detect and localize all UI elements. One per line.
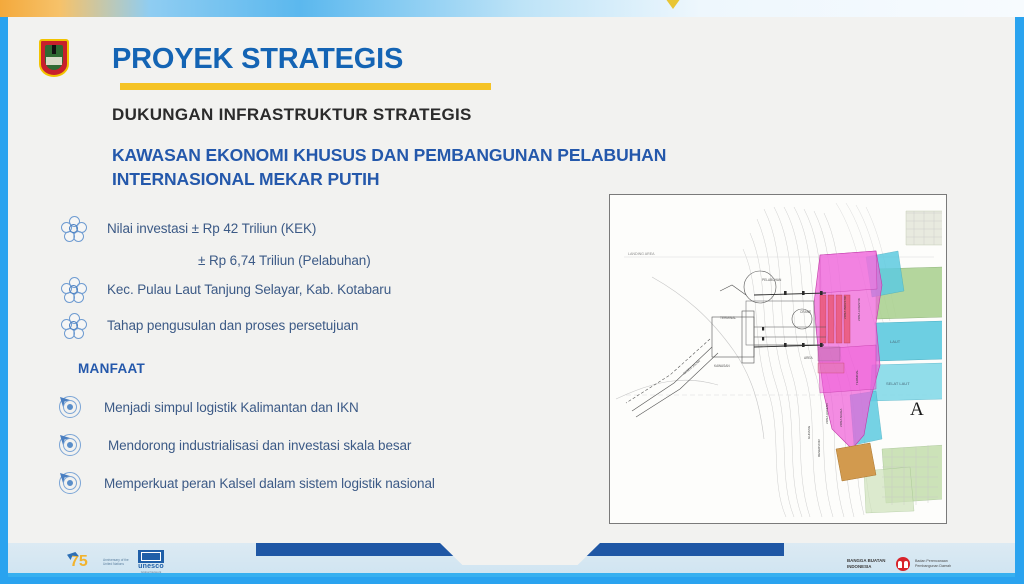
page-subtitle: DUKUNGAN INFRASTRUKTUR STRATEGIS [112,105,472,125]
flower-icon [60,215,88,243]
list-item-label: Kec. Pulau Laut Tanjung Selayar, Kab. Ko… [107,281,391,298]
radar-icon [58,395,84,421]
svg-text:TERMINAL: TERMINAL [720,316,736,320]
list-item: ± Rp 6,74 Triliun (Pelabuhan) [198,252,371,269]
svg-text:GUDANG: GUDANG [807,425,811,439]
svg-text:CRANE: CRANE [800,310,811,314]
un75-caption: Anniversary of the United Nations [103,558,133,566]
title-underline [120,83,491,90]
list-item: Mendorong industrialisasi dan investasi … [58,433,411,459]
list-item: Tahap pengusulan dan proses persetujuan [60,312,358,340]
agency-mark-icon [896,557,910,571]
list-item-label: Mendorong industrialisasi dan investasi … [108,437,411,454]
site-plan-svg: LANDING AREA [614,199,942,519]
provincial-emblem-icon [39,39,69,77]
ministry-label: BANGGA BUATAN INDONESIA [847,558,891,570]
svg-text:KAWASAN: KAWASAN [714,364,730,368]
unesco-logo: unesco Global Network [138,550,164,574]
list-item-label: Nilai investasi ± Rp 42 Triliun (KEK) [107,220,316,237]
svg-text:RESERVOIR: RESERVOIR [817,439,821,457]
svg-text:PELABUHAN: PELABUHAN [762,278,782,282]
map-label-a: A [910,399,924,420]
footer-left-logos: 75 Anniversary of the United Nations une… [70,550,164,574]
svg-text:SELAT LAUT: SELAT LAUT [886,381,910,386]
site-plan-image: LANDING AREA [609,194,947,524]
list-item-label: Tahap pengusulan dan proses persetujuan [107,317,358,334]
svg-text:ZONA HUNIAN: ZONA HUNIAN [825,403,829,424]
un75-logo: 75 [70,551,98,573]
svg-text:LAUT: LAUT [890,339,901,344]
slide-screen: PROYEK STRATEGIS DUKUNGAN INFRASTRUKTUR … [0,0,1024,584]
list-item-label: Memperkuat peran Kalsel dalam sistem log… [104,475,435,492]
list-item-label: Menjadi simpul logistik Kalimantan dan I… [104,399,359,416]
organization-logo [8,17,100,109]
list-item: Menjadi simpul logistik Kalimantan dan I… [58,395,359,421]
radar-icon [58,433,84,459]
svg-text:ZONA INDUSTRI: ZONA INDUSTRI [843,296,847,319]
list-item-label: ± Rp 6,74 Triliun (Pelabuhan) [198,252,371,269]
flower-icon [60,276,88,304]
radar-icon [58,471,84,497]
unesco-temple-icon [138,550,164,563]
list-item: Kec. Pulau Laut Tanjung Selayar, Kab. Ko… [60,276,391,304]
top-gradient-strip [0,0,1024,17]
footer-right-logos: BANGGA BUATAN INDONESIA Badan Perencanaa… [847,557,955,571]
svg-text:TERMINAL: TERMINAL [855,370,859,386]
benefits-heading: MANFAAT [78,361,145,376]
flower-icon [60,312,88,340]
slide-footer: 75 Anniversary of the United Nations une… [8,543,1015,577]
chevron-down-icon [660,0,686,9]
section-heading: KAWASAN EKONOMI KHUSUS DAN PEMBANGUNAN P… [112,143,732,191]
svg-text:AREA: AREA [804,356,814,360]
svg-text:LANDING AREA: LANDING AREA [628,252,655,256]
list-item: Nilai investasi ± Rp 42 Triliun (KEK) [60,215,316,243]
svg-text:ZONA NIAGA: ZONA NIAGA [839,409,843,427]
footer-notch [440,543,600,565]
footer-accent-rule [8,573,1015,577]
page-title: PROYEK STRATEGIS [112,43,403,76]
agency-label: Badan Perencanaan Pembangunan Daerah [915,559,955,569]
list-item: Memperkuat peran Kalsel dalam sistem log… [58,471,435,497]
presentation-slide: PROYEK STRATEGIS DUKUNGAN INFRASTRUKTUR … [8,17,1015,577]
svg-text:ZONA LOGISTIK: ZONA LOGISTIK [857,298,861,321]
